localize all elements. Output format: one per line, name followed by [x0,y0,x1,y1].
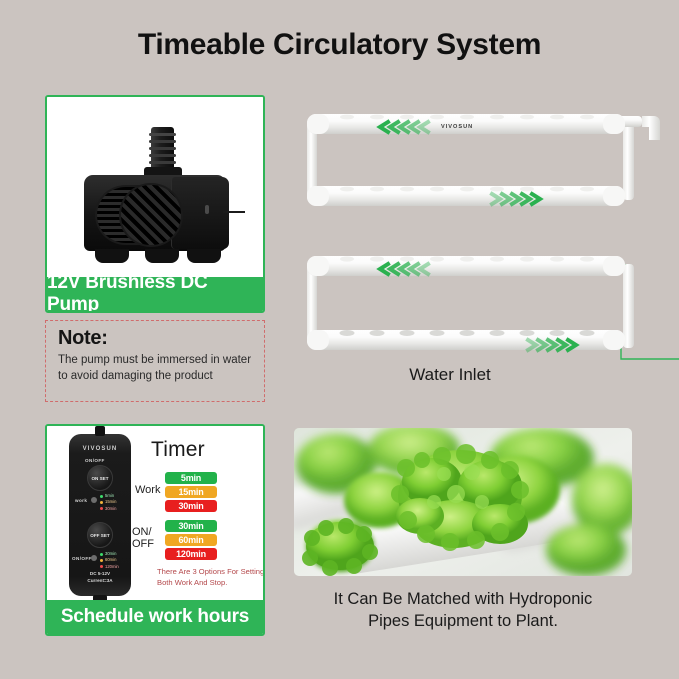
pipe-system-diagram: VIVOSUN [285,100,679,370]
pipe-brand-label: VIVOSUN [441,124,473,130]
timer-onoff-led-list: 30min 60min 120min [100,551,119,570]
timer-on-set-button[interactable]: ON SET [87,465,113,491]
grow-pipe-2-end-cap [307,186,329,206]
timer-onoff-dot-icon [91,555,97,561]
timer-group-label-work: Work [135,484,160,496]
timer-badge-onoff-30min[interactable]: 30min [165,520,217,532]
page-title: Timeable Circulatory System [0,28,679,62]
pump-indicator-icon [205,205,209,214]
timer-footnote: There Are 3 Options For Setting Both Wor… [157,566,265,589]
grow-pipe-1-end-cap [307,114,329,134]
timer-caption: Schedule work hours [47,600,263,634]
grow-pipe-2-planting-holes [340,187,594,192]
timer-badge-onoff-120min[interactable]: 120min [165,548,217,560]
timer-illustration: VIVOSUN ON/OFF ON SET work 5min 15min 30… [47,426,263,600]
grow-pipe-row [307,330,625,350]
pipe-riser-right-upper [623,122,634,200]
grow-pipe-4-end-cap [603,330,625,350]
timer-work-led-item: 30min [100,506,116,512]
pipe-riser-right-lower [623,264,634,348]
timer-badge-work-15min[interactable]: 15min [165,486,217,498]
plant-photo [294,428,632,576]
note-title: Note: [58,328,254,349]
grow-pipe-row [307,186,625,206]
lettuce-illustration [294,428,632,576]
pump-image [47,97,263,277]
timer-group-label-onoff-line2: OFF [132,538,154,550]
timer-device-brand: VIVOSUN [69,446,131,452]
grow-pipe-row [307,256,625,276]
timer-work-dot-icon [91,497,97,503]
timer-device-spec-current: Current=3A [69,577,131,584]
plant-caption-line-2: Pipes Equipment to Plant. [285,610,641,632]
pump-suction-cup-icon [187,249,221,263]
grow-pipe-4-planting-holes [340,330,595,336]
plant-caption-line-1: It Can Be Matched with Hydroponic [285,588,641,610]
pump-suction-cup-icon [95,249,129,263]
pump-caption: 12V Brushless DC Pump [47,277,263,311]
grow-pipe-4-end-cap [307,330,329,350]
timer-group-label-onoff: ON/ OFF [132,526,154,551]
plant-photo-caption: It Can Be Matched with Hydroponic Pipes … [285,588,641,633]
infographic-page: Timeable Circulatory System 12V Brushles… [0,0,679,679]
pipe-elbow-outlet [642,116,660,140]
timer-device-work-label: work [75,498,87,503]
timer-panel: VIVOSUN ON/OFF ON SET work 5min 15min 30… [45,424,265,636]
timer-badge-work-30min[interactable]: 30min [165,500,217,512]
timer-device-spec: DC 5-12V Current=3A [69,570,131,584]
note-box: Note: The pump must be immersed in water… [45,320,265,402]
timer-device-onoff-top-label: ON/OFF [85,458,105,463]
pipe-diagram-caption: Water Inlet [285,365,615,385]
pump-impeller-cover-icon [119,183,183,247]
timer-device-image: VIVOSUN ON/OFF ON SET work 5min 15min 30… [69,434,131,596]
grow-pipe-3-end-cap [307,256,329,276]
timer-work-led-list: 5min 15min 30min [100,493,116,512]
pump-suction-cup-icon [145,249,179,263]
pump-cord-icon [223,211,245,213]
note-text: The pump must be immersed in water to av… [58,353,254,385]
timer-heading: Timer [151,438,205,462]
timer-off-set-button[interactable]: OFF SET [87,522,113,548]
grow-pipe-2-end-cap [603,186,625,206]
timer-group-label-onoff-line1: ON/ [132,526,154,538]
grow-pipe-3-end-cap [603,256,625,276]
timer-device-onoff-bottom-label: ON/OFF [72,556,92,561]
timer-badge-onoff-60min[interactable]: 60min [165,534,217,546]
grow-pipe-1-end-cap [603,114,625,134]
pump-panel: 12V Brushless DC Pump [45,95,265,313]
grow-pipe-3-planting-holes [340,256,594,261]
timer-badge-work-5min[interactable]: 5min [165,472,217,484]
grow-pipe-1-planting-holes [340,115,594,120]
timer-device-spec-voltage: DC 5-12V [69,570,131,577]
